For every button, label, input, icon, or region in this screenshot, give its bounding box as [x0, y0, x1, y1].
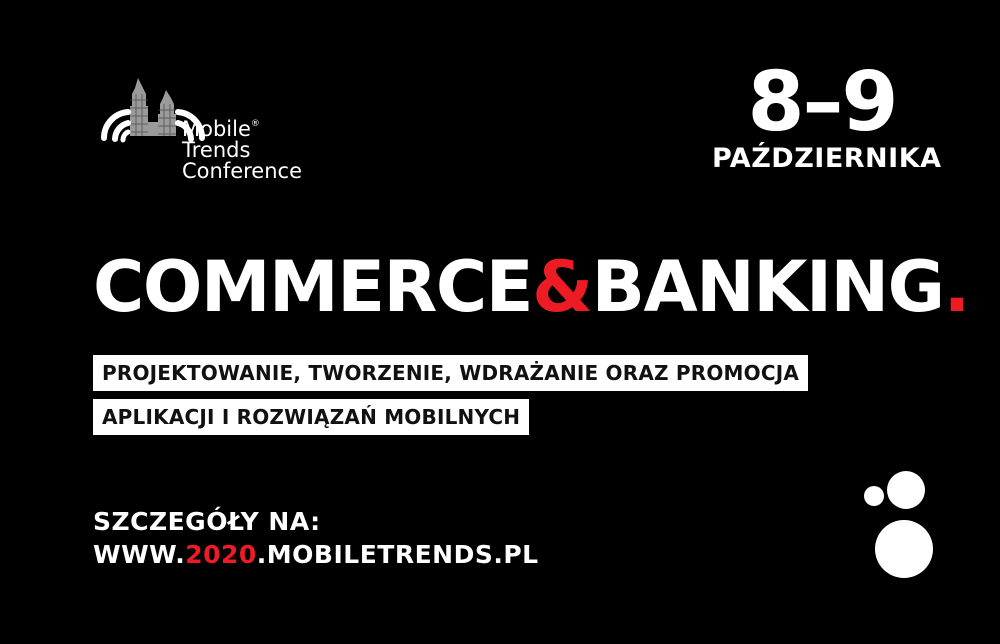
- subtitle-block: PROJEKTOWANIE, TWORZENIE, WDRAŻANIE ORAZ…: [93, 355, 808, 443]
- decorative-dot-medium-icon: [887, 471, 925, 509]
- footer-url-prefix: WWW.: [93, 540, 185, 569]
- logo-line-conference: Conference: [182, 161, 302, 182]
- decorative-dot-large-icon: [875, 520, 933, 578]
- subtitle-line-1: PROJEKTOWANIE, TWORZENIE, WDRAŻANIE ORAZ…: [93, 355, 808, 391]
- logo-wordmark: Mobile® Trends Conference: [182, 116, 302, 182]
- event-date-days: 8–9: [712, 64, 932, 142]
- footer-url[interactable]: WWW.2020.MOBILETRENDS.PL: [93, 538, 539, 571]
- footer-url-year: 2020: [185, 540, 257, 569]
- event-poster: Mobile® Trends Conference 8–9 PAŹDZIERNI…: [0, 0, 1000, 644]
- footer-details: SZCZEGÓŁY NA: WWW.2020.MOBILETRENDS.PL: [93, 505, 539, 571]
- headline-banking: BANKING: [592, 246, 944, 328]
- headline-period: .: [944, 246, 969, 328]
- headline-ampersand: &: [532, 246, 592, 328]
- footer-url-suffix: .MOBILETRENDS.PL: [257, 540, 539, 569]
- subtitle-line-2: APLIKACJI I ROZWIĄZAŃ MOBILNYCH: [93, 399, 529, 435]
- logo-line-trends: Trends: [182, 140, 302, 161]
- logo-line-mobile: Mobile®: [182, 116, 302, 140]
- event-date: 8–9 PAŹDZIERNIKA: [712, 64, 932, 174]
- decorative-dot-small-icon: [864, 486, 884, 506]
- mobile-trends-conference-logo[interactable]: Mobile® Trends Conference: [88, 76, 318, 186]
- event-date-month: PAŹDZIERNIKA: [712, 144, 932, 174]
- decorative-dots: [850, 462, 960, 582]
- headline-commerce: COMMERCE: [93, 246, 532, 328]
- registered-trademark-icon: ®: [251, 119, 260, 129]
- page-title: COMMERCE&BANKING.: [93, 252, 969, 322]
- footer-label: SZCZEGÓŁY NA:: [93, 505, 539, 538]
